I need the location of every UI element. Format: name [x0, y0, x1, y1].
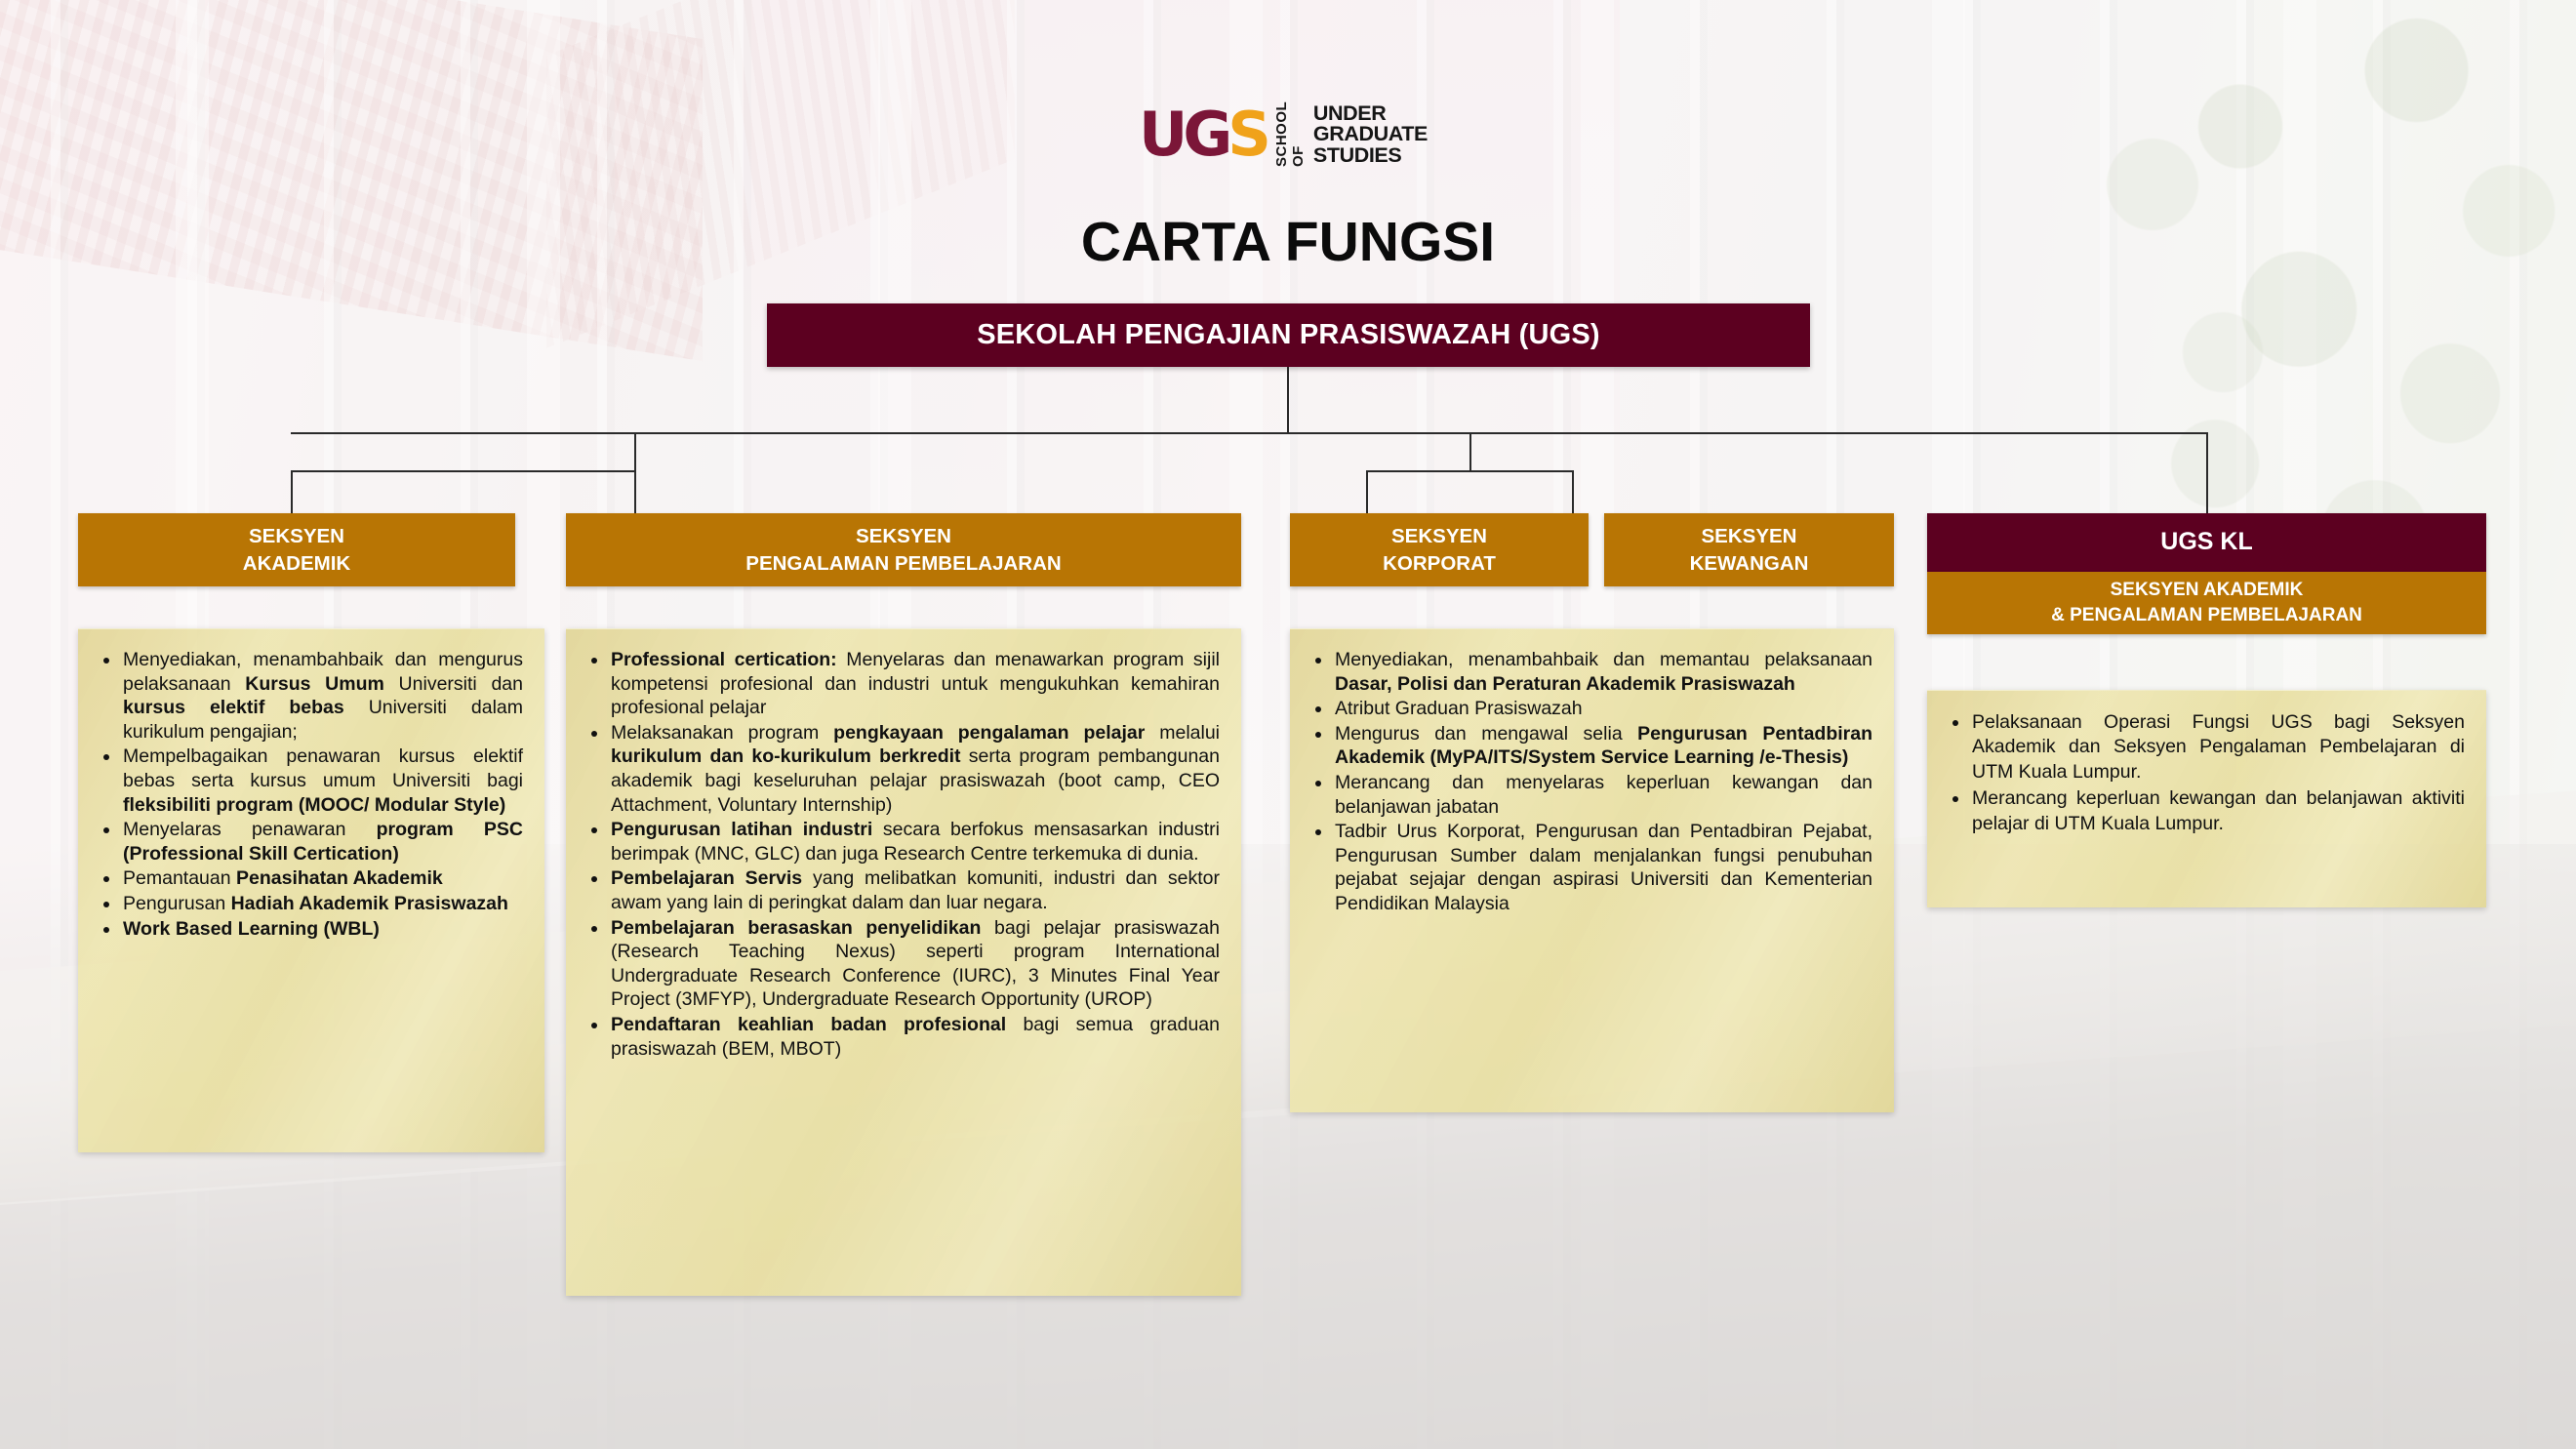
section-body-ugskl: Pelaksanaan Operasi Fungsi UGS bagi Seks…	[1927, 690, 2486, 907]
body-text: Tadbir Urus Korporat, Pengurusan dan Pen…	[1335, 821, 1872, 914]
emphasis-text: Pengurusan latihan industri	[611, 819, 872, 840]
emphasis-text: Pembelajaran berasaskan penyelidikan	[611, 917, 981, 939]
section-head-korporat-line1: SEKSYEN	[1391, 523, 1487, 550]
emphasis-text: fleksibiliti program (MOOC/ Modular Styl…	[123, 794, 505, 816]
connector-right-group-drop	[1469, 432, 1471, 471]
emphasis-text: kursus elektif bebas	[123, 697, 344, 718]
connector-root-stem	[1287, 367, 1289, 434]
section-head-pengalaman-line2: PENGALAMAN PEMBELAJARAN	[745, 550, 1061, 578]
connector-to-akademik	[291, 470, 293, 513]
body-text: Menyediakan, menambahbaik dan memantau p…	[1335, 649, 1872, 670]
list-item: Melaksanakan program pengkayaan pengalam…	[609, 721, 1220, 817]
section-head-kewangan-line2: KEWANGAN	[1690, 550, 1809, 578]
list-item: Pembelajaran berasaskan penyelidikan bag…	[609, 916, 1220, 1012]
logo-letter-u: U	[1139, 104, 1183, 165]
section-head-kewangan[interactable]: SEKSYEN KEWANGAN	[1604, 513, 1894, 586]
connector-to-ugskl	[2206, 432, 2208, 513]
emphasis-text: kurikulum dan ko-kurikulum berkredit	[611, 745, 961, 767]
body-text: Pemantauan	[123, 867, 236, 889]
section-body-korporat-kewangan: Menyediakan, menambahbaik dan memantau p…	[1290, 628, 1894, 1112]
emphasis-text: Dasar, Polisi dan Peraturan Akademik Pra…	[1335, 673, 1795, 695]
connector-to-korporat	[1366, 470, 1368, 513]
list-item: Menyelaras penawaran program PSC (Profes…	[121, 818, 523, 865]
body-text: Mempelbagaikan penawaran kursus elektif …	[123, 745, 523, 791]
body-text: Atribut Graduan Prasiswazah	[1335, 698, 1583, 719]
section-body-akademik: Menyediakan, menambahbaik dan mengurus p…	[78, 628, 544, 1152]
page-title: CARTA FUNGSI	[0, 210, 2576, 274]
section-subhead-ugskl[interactable]: SEKSYEN AKADEMIK & PENGALAMAN PEMBELAJAR…	[1927, 572, 2486, 634]
section-head-pengalaman-line1: SEKSYEN	[856, 523, 951, 550]
emphasis-text: Work Based Learning (WBL)	[123, 918, 380, 940]
ugs-logo-mark: UGS	[1139, 104, 1267, 165]
body-text: Melaksanakan program	[611, 722, 833, 744]
list-item: Mengurus dan mengawal selia Pengurusan P…	[1333, 722, 1872, 770]
section-head-akademik-line2: AKADEMIK	[243, 550, 350, 578]
korporat-kewangan-list: Menyediakan, menambahbaik dan memantau p…	[1308, 648, 1872, 916]
body-text: Mengurus dan mengawal selia	[1335, 723, 1637, 745]
list-item: Atribut Graduan Prasiswazah	[1333, 697, 1872, 721]
logo-school-of-text: SCHOOL OF	[1273, 104, 1307, 165]
emphasis-text: pengkayaan pengalaman pelajar	[833, 722, 1145, 744]
emphasis-text: Pendaftaran keahlian badan profesional	[611, 1014, 1006, 1035]
logo-letter-g: G	[1183, 104, 1228, 165]
body-text: Universiti dan	[384, 673, 523, 695]
body-text: Merancang dan menyelaras keperluan kewan…	[1335, 772, 1872, 818]
list-item: Pemantauan Penasihatan Akademik	[121, 866, 523, 891]
section-head-akademik[interactable]: SEKSYEN AKADEMIK	[78, 513, 515, 586]
connector-right-sub-bus	[1366, 470, 1574, 472]
logo-word-graduate: GRADUATE	[1313, 124, 1428, 145]
list-item: Merancang keperluan kewangan dan belanja…	[1970, 785, 2465, 836]
section-subhead-ugskl-line2: & PENGALAMAN PEMBELAJARAN	[2051, 603, 2362, 628]
list-item: Pelaksanaan Operasi Fungsi UGS bagi Seks…	[1970, 709, 2465, 785]
ugs-logo: UGS SCHOOL OF UNDER GRADUATE STUDIES	[1139, 96, 1451, 174]
ugskl-list: Pelaksanaan Operasi Fungsi UGS bagi Seks…	[1945, 709, 2465, 836]
list-item: Pengurusan latihan industri secara berfo…	[609, 818, 1220, 865]
section-body-pengalaman: Professional certication: Menyelaras dan…	[566, 628, 1241, 1296]
section-head-korporat[interactable]: SEKSYEN KORPORAT	[1290, 513, 1589, 586]
list-item: Professional certication: Menyelaras dan…	[609, 648, 1220, 720]
body-text: Pengurusan	[123, 893, 231, 914]
logo-word-under: UNDER	[1313, 103, 1428, 125]
logo-wordmark: UNDER GRADUATE STUDIES	[1313, 103, 1428, 167]
connector-main-bus	[291, 432, 2208, 434]
list-item: Merancang dan menyelaras keperluan kewan…	[1333, 771, 1872, 819]
logo-word-studies: STUDIES	[1313, 145, 1428, 167]
connector-left-group-drop	[634, 432, 636, 471]
list-item: Menyediakan, menambahbaik dan memantau p…	[1333, 648, 1872, 696]
list-item: Mempelbagaikan penawaran kursus elektif …	[121, 745, 523, 817]
logo-letter-s: S	[1228, 104, 1267, 165]
section-head-ugskl[interactable]: UGS KL	[1927, 513, 2486, 572]
section-head-ugskl-label: UGS KL	[2160, 526, 2252, 559]
section-head-pengalaman[interactable]: SEKSYEN PENGALAMAN PEMBELAJARAN	[566, 513, 1241, 586]
emphasis-text: Penasihatan Akademik	[236, 867, 443, 889]
list-item: Pembelajaran Servis yang melibatkan komu…	[609, 866, 1220, 914]
section-head-korporat-line2: KORPORAT	[1383, 550, 1496, 578]
body-text: Menyelaras penawaran	[123, 819, 377, 840]
root-node-label: SEKOLAH PENGAJIAN PRASISWAZAH (UGS)	[977, 319, 1600, 351]
emphasis-text: Professional certication:	[611, 649, 837, 670]
body-text: Pelaksanaan Operasi Fungsi UGS bagi Seks…	[1972, 711, 2465, 783]
body-text: Merancang keperluan kewangan dan belanja…	[1972, 787, 2465, 833]
emphasis-text: Hadiah Akademik Prasiswazah	[231, 893, 508, 914]
list-item: Pengurusan Hadiah Akademik Prasiswazah	[121, 892, 523, 916]
pengalaman-list: Professional certication: Menyelaras dan…	[584, 648, 1220, 1061]
connector-left-sub-bus	[291, 470, 636, 472]
body-text: melalui	[1145, 722, 1220, 744]
list-item: Menyediakan, menambahbaik dan mengurus p…	[121, 648, 523, 744]
root-node-ugs: SEKOLAH PENGAJIAN PRASISWAZAH (UGS)	[767, 303, 1810, 367]
akademik-list: Menyediakan, menambahbaik dan mengurus p…	[96, 648, 523, 941]
emphasis-text: Kursus Umum	[245, 673, 384, 695]
section-head-kewangan-line1: SEKSYEN	[1702, 523, 1797, 550]
list-item: Work Based Learning (WBL)	[121, 917, 523, 942]
list-item: Tadbir Urus Korporat, Pengurusan dan Pen…	[1333, 820, 1872, 915]
connector-to-kewangan	[1572, 470, 1574, 513]
function-chart-canvas: UGS SCHOOL OF UNDER GRADUATE STUDIES CAR…	[0, 0, 2576, 1449]
connector-to-pengalaman	[634, 470, 636, 513]
section-head-akademik-line1: SEKSYEN	[249, 523, 344, 550]
section-subhead-ugskl-line1: SEKSYEN AKADEMIK	[2111, 578, 2304, 603]
emphasis-text: Pembelajaran Servis	[611, 867, 802, 889]
list-item: Pendaftaran keahlian badan profesional b…	[609, 1013, 1220, 1061]
